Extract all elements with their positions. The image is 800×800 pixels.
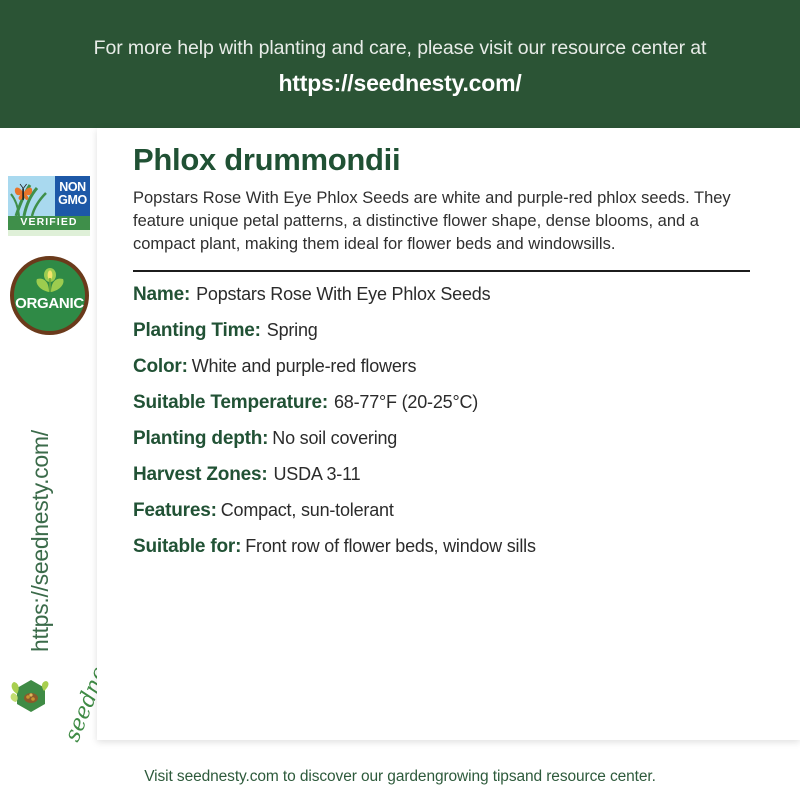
section-divider [133,270,750,272]
spec-row-features: Features: Compact, sun-tolerant [133,500,763,522]
header-banner: For more help with planting and care, pl… [0,0,800,128]
spec-value: 68-77°F (20-25°C) [334,392,478,413]
butterfly-grass-icon [10,180,54,216]
spec-label: Planting depth: [133,428,268,450]
spec-row-color: Color: White and purple-red flowers [133,356,763,378]
spec-list: Name: Popstars Rose With Eye Phlox Seeds… [133,284,763,558]
spec-row-harvest-zones: Harvest Zones: USDA 3-11 [133,464,763,486]
spec-row-planting-time: Planting Time: Spring [133,320,763,342]
spec-row-suitable-for: Suitable for: Front row of flower beds, … [133,536,763,558]
spec-label: Name: [133,284,190,306]
non-gmo-soil-strip [8,229,90,236]
footer-note: Visit seednesty.com to discover our gard… [0,768,800,786]
product-description: Popstars Rose With Eye Phlox Seeds are w… [133,187,740,255]
spec-value: USDA 3-11 [273,464,360,485]
header-url[interactable]: https://seednesty.com/ [278,70,521,97]
spec-value: Front row of flower beds, window sills [245,536,536,557]
spec-row-name: Name: Popstars Rose With Eye Phlox Seeds [133,284,763,306]
body-area: NON GMO VERIFIED ORGANIC https://seednes… [0,128,800,800]
brand-logo: seednesty [2,648,97,748]
spec-value: White and purple-red flowers [192,356,417,377]
organic-badge: ORGANIC [10,256,89,335]
spec-row-planting-depth: Planting depth: No soil covering [133,428,763,450]
page-title: Phlox drummondii [133,142,763,178]
spec-value: Spring [267,320,318,341]
sidebar: NON GMO VERIFIED ORGANIC https://seednes… [0,128,97,748]
non-gmo-text-box: NON GMO [55,176,90,216]
spec-value: Popstars Rose With Eye Phlox Seeds [196,284,490,305]
product-info-card: Phlox drummondii Popstars Rose With Eye … [97,128,800,740]
spec-label: Planting Time: [133,320,261,342]
seednesty-logo-icon [10,676,52,716]
sidebar-vertical-url: https://seednesty.com/ [27,372,54,652]
organic-leaf-icon [35,268,65,294]
spec-label: Features: [133,500,217,522]
non-gmo-verified-badge: NON GMO VERIFIED [8,176,90,236]
non-gmo-verified-label: VERIFIED [8,216,90,229]
header-helper-text: For more help with planting and care, pl… [94,37,707,60]
spec-value: Compact, sun-tolerant [221,500,394,521]
spec-label: Suitable Temperature: [133,392,328,414]
spec-row-suitable-temperature: Suitable Temperature: 68-77°F (20-25°C) [133,392,763,414]
organic-label: ORGANIC [15,295,84,312]
spec-label: Suitable for: [133,536,241,558]
non-gmo-line-gmo: GMO [55,194,90,207]
spec-value: No soil covering [272,428,397,449]
spec-label: Harvest Zones: [133,464,267,486]
spec-label: Color: [133,356,188,378]
